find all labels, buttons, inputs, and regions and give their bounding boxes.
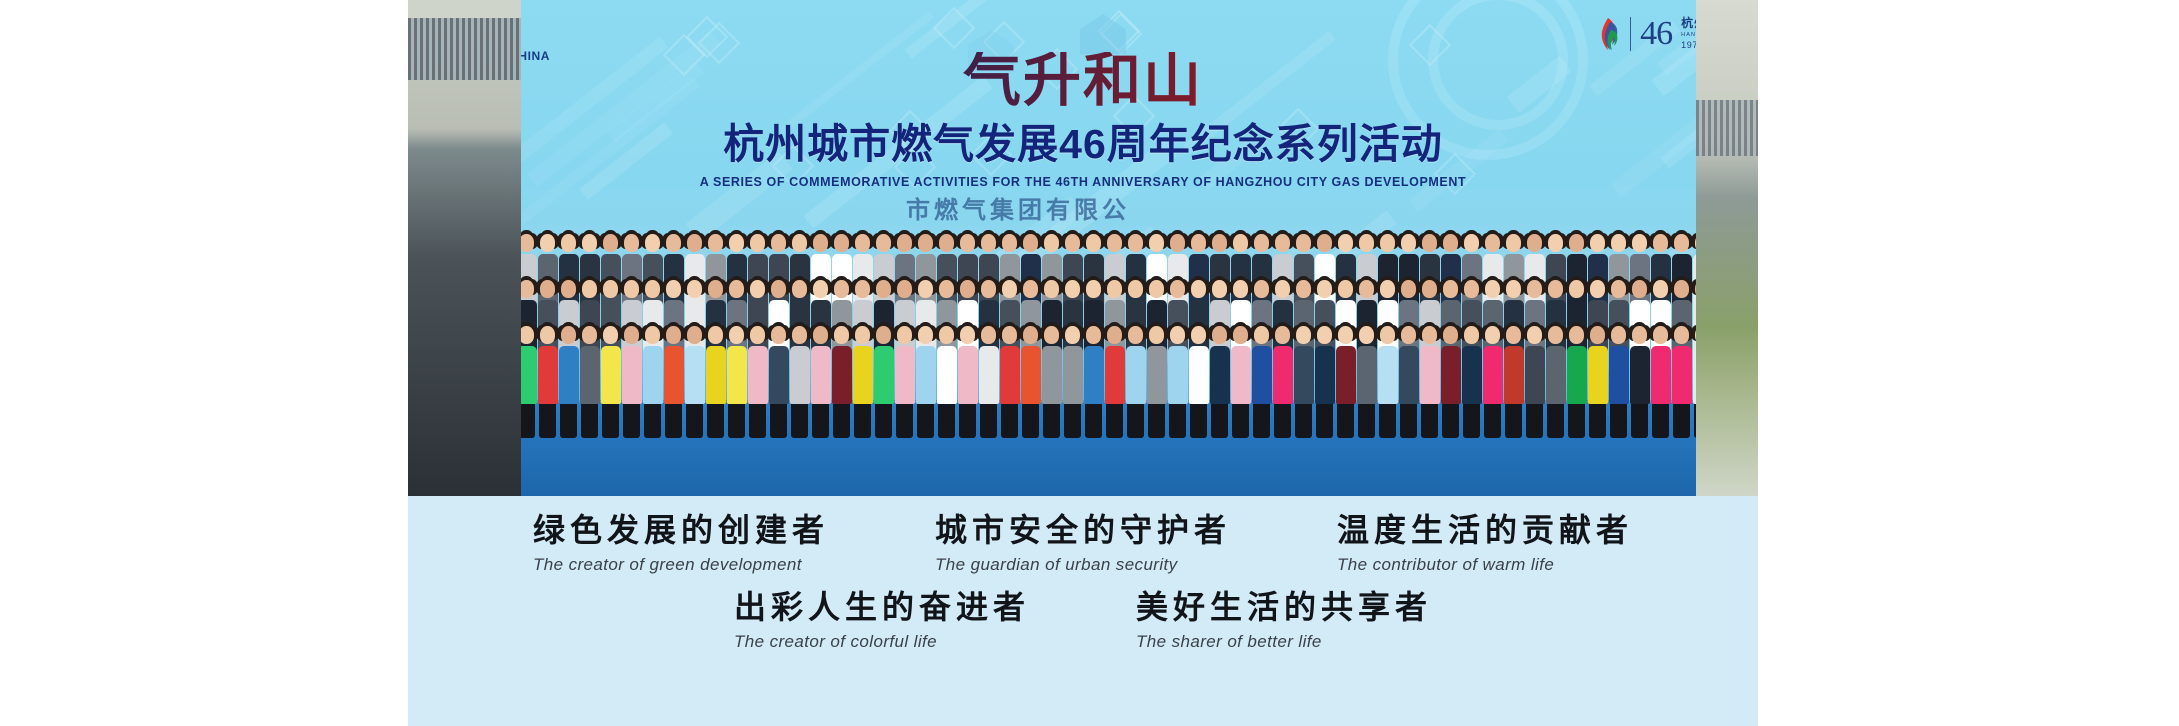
room-left-wall — [408, 0, 521, 496]
person — [685, 326, 705, 438]
glass-railing — [408, 0, 521, 20]
person — [538, 326, 558, 438]
person — [1231, 326, 1251, 438]
tagline-cn: 绿色发展的创建者 — [533, 512, 829, 549]
person — [1105, 326, 1125, 438]
content-column: 中国 · 杭州 HANGZHOU CHINA 46 杭州燃气 HANGZHOU … — [408, 0, 1758, 726]
event-headline: 杭州城市燃气发展46周年纪念系列活动 — [408, 122, 1758, 167]
person — [1504, 326, 1524, 438]
person — [958, 326, 978, 438]
person — [811, 326, 831, 438]
person — [1525, 326, 1545, 438]
person — [1294, 326, 1314, 438]
tagline-en: The guardian of urban security — [935, 555, 1231, 575]
person — [601, 326, 621, 438]
flame-icon — [1597, 16, 1621, 52]
person — [1546, 326, 1566, 438]
person — [622, 326, 642, 438]
person — [916, 326, 936, 438]
person — [748, 326, 768, 438]
logo-divider — [1630, 17, 1631, 51]
person — [790, 326, 810, 438]
person — [1420, 326, 1440, 438]
art-title: 气升和山 — [408, 52, 1758, 110]
person — [853, 326, 873, 438]
tagline-urban-security: 城市安全的守护者 The guardian of urban security — [935, 512, 1231, 575]
person — [1168, 326, 1188, 438]
tagline-en: The creator of colorful life — [734, 632, 1030, 652]
person — [1336, 326, 1356, 438]
person — [874, 326, 894, 438]
person — [1588, 326, 1608, 438]
taglines-row-1: 绿色发展的创建者 The creator of green developmen… — [408, 496, 1758, 575]
tagline-cn: 出彩人生的奋进者 — [734, 589, 1030, 626]
person — [1084, 326, 1104, 438]
tagline-en: The sharer of better life — [1136, 632, 1432, 652]
person — [1000, 326, 1020, 438]
person — [1063, 326, 1083, 438]
person — [979, 326, 999, 438]
person — [1441, 326, 1461, 438]
taglines-row-2: 出彩人生的奋进者 The creator of colorful life 美好… — [408, 575, 1758, 652]
page-root: 中国 · 杭州 HANGZHOU CHINA 46 杭州燃气 HANGZHOU … — [0, 0, 2179, 726]
person — [937, 326, 957, 438]
tagline-en: The creator of green development — [533, 555, 829, 575]
group-photo-people — [508, 166, 1700, 496]
person — [1147, 326, 1167, 438]
tagline-colorful-life: 出彩人生的奋进者 The creator of colorful life — [734, 589, 1030, 652]
person — [706, 326, 726, 438]
tagline-cn: 城市安全的守护者 — [935, 512, 1231, 549]
person — [1126, 326, 1146, 438]
person — [1189, 326, 1209, 438]
person — [1483, 326, 1503, 438]
person — [1210, 326, 1230, 438]
person — [1273, 326, 1293, 438]
people-row-front — [508, 298, 1700, 438]
person — [559, 326, 579, 438]
person — [1042, 326, 1062, 438]
tagline-green-development: 绿色发展的创建者 The creator of green developmen… — [533, 512, 829, 575]
person — [895, 326, 915, 438]
person — [1399, 326, 1419, 438]
tagline-cn: 美好生活的共享者 — [1136, 589, 1432, 626]
person — [1462, 326, 1482, 438]
person — [1315, 326, 1335, 438]
anniversary-number: 46 — [1640, 17, 1672, 51]
room-right-wall — [1696, 0, 1758, 496]
tagline-better-life: 美好生活的共享者 The sharer of better life — [1136, 589, 1432, 652]
person — [1672, 326, 1692, 438]
taglines-panel: 绿色发展的创建者 The creator of green developmen… — [408, 496, 1758, 726]
person — [1630, 326, 1650, 438]
person — [832, 326, 852, 438]
person — [1021, 326, 1041, 438]
person — [727, 326, 747, 438]
tagline-warm-life: 温度生活的贡献者 The contributor of warm life — [1337, 512, 1633, 575]
person — [1567, 326, 1587, 438]
person — [664, 326, 684, 438]
person — [769, 326, 789, 438]
person — [1651, 326, 1671, 438]
person — [1609, 326, 1629, 438]
perforated-rail-right — [1696, 100, 1758, 156]
person — [1357, 326, 1377, 438]
person — [580, 326, 600, 438]
tagline-cn: 温度生活的贡献者 — [1337, 512, 1633, 549]
tagline-en: The contributor of warm life — [1337, 555, 1633, 575]
person — [1378, 326, 1398, 438]
person — [1252, 326, 1272, 438]
event-photo: 中国 · 杭州 HANGZHOU CHINA 46 杭州燃气 HANGZHOU … — [408, 0, 1758, 496]
perforated-rail-left — [408, 18, 521, 80]
person — [643, 326, 663, 438]
